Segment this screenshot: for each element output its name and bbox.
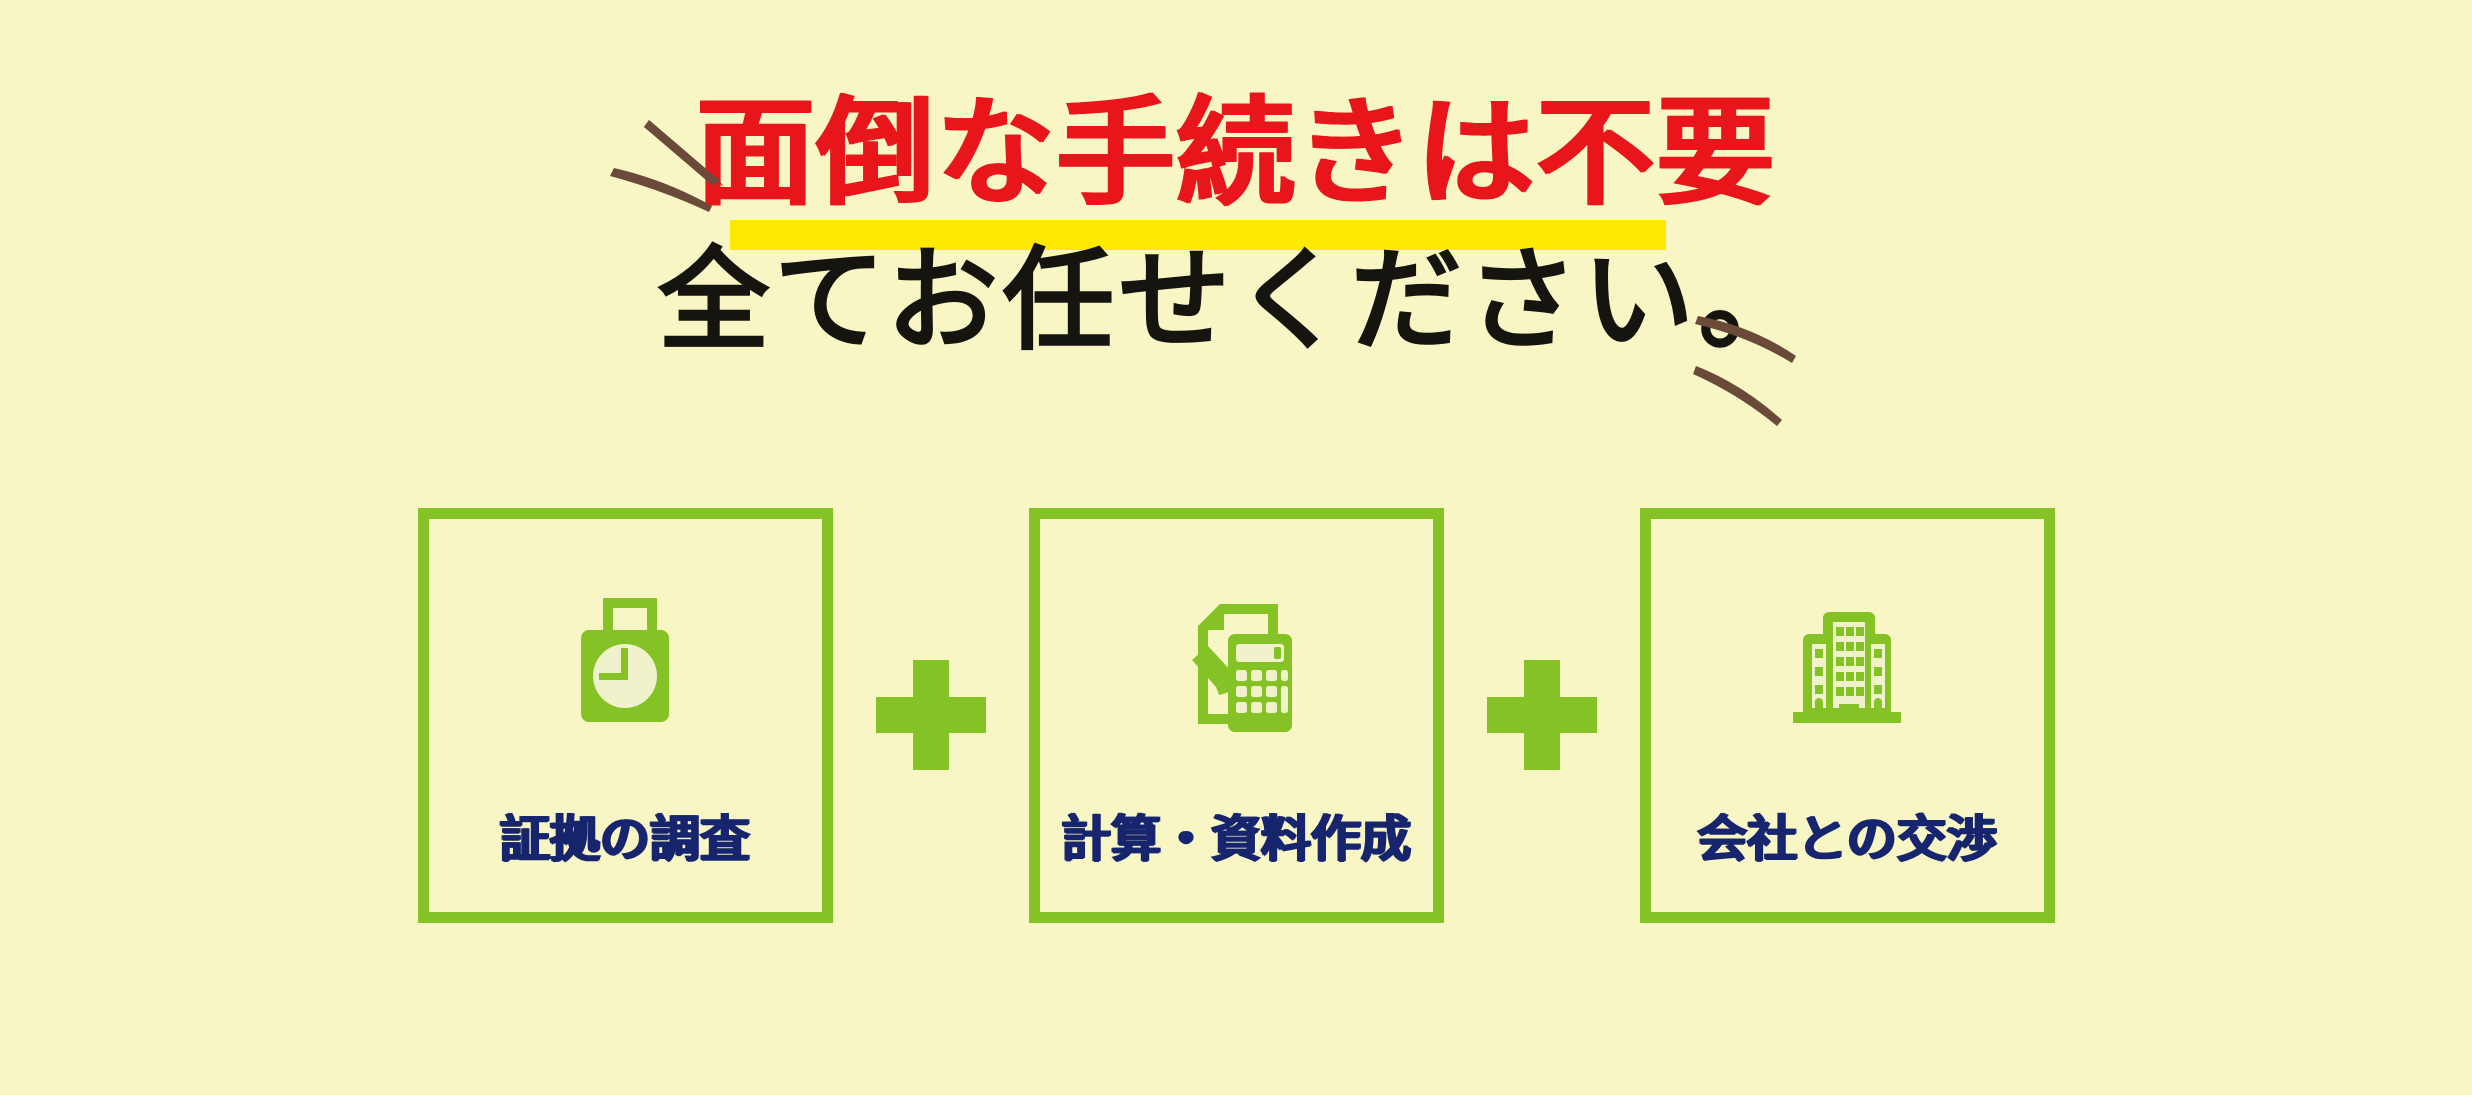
office-buildings-icon xyxy=(1752,571,1942,761)
headline-line-1-text: 面倒な手続きは不要 xyxy=(696,89,1776,220)
promo-banner: 面倒な手続きは不要 全てお任せください。 xyxy=(0,0,2472,1095)
service-card-label: 証拠の調査 xyxy=(429,814,822,864)
headline-block: 面倒な手続きは不要 全てお任せください。 xyxy=(0,96,2472,386)
service-card-label: 計算・資料作成 xyxy=(1040,814,1433,864)
headline-line-1: 面倒な手続きは不要 xyxy=(0,96,2472,232)
plus-icon xyxy=(876,660,986,770)
service-card-label: 会社との交渉 xyxy=(1651,814,2044,864)
service-card-calculation-documents[interactable]: 計算・資料作成 xyxy=(1029,508,1444,923)
bag-with-clock-icon xyxy=(530,571,720,761)
service-card-evidence-investigation[interactable]: 証拠の調査 xyxy=(418,508,833,923)
document-pencil-calculator-icon xyxy=(1141,571,1331,761)
headline-line-2: 全てお任せください。 xyxy=(0,246,2472,386)
service-cards-row: 証拠の調査 xyxy=(0,505,2472,925)
plus-separator-2 xyxy=(1444,508,1640,923)
plus-separator-1 xyxy=(833,508,1029,923)
headline-line-2-text: 全てお任せください。 xyxy=(658,240,1815,364)
plus-icon xyxy=(1487,660,1597,770)
service-card-company-negotiation[interactable]: 会社との交渉 xyxy=(1640,508,2055,923)
